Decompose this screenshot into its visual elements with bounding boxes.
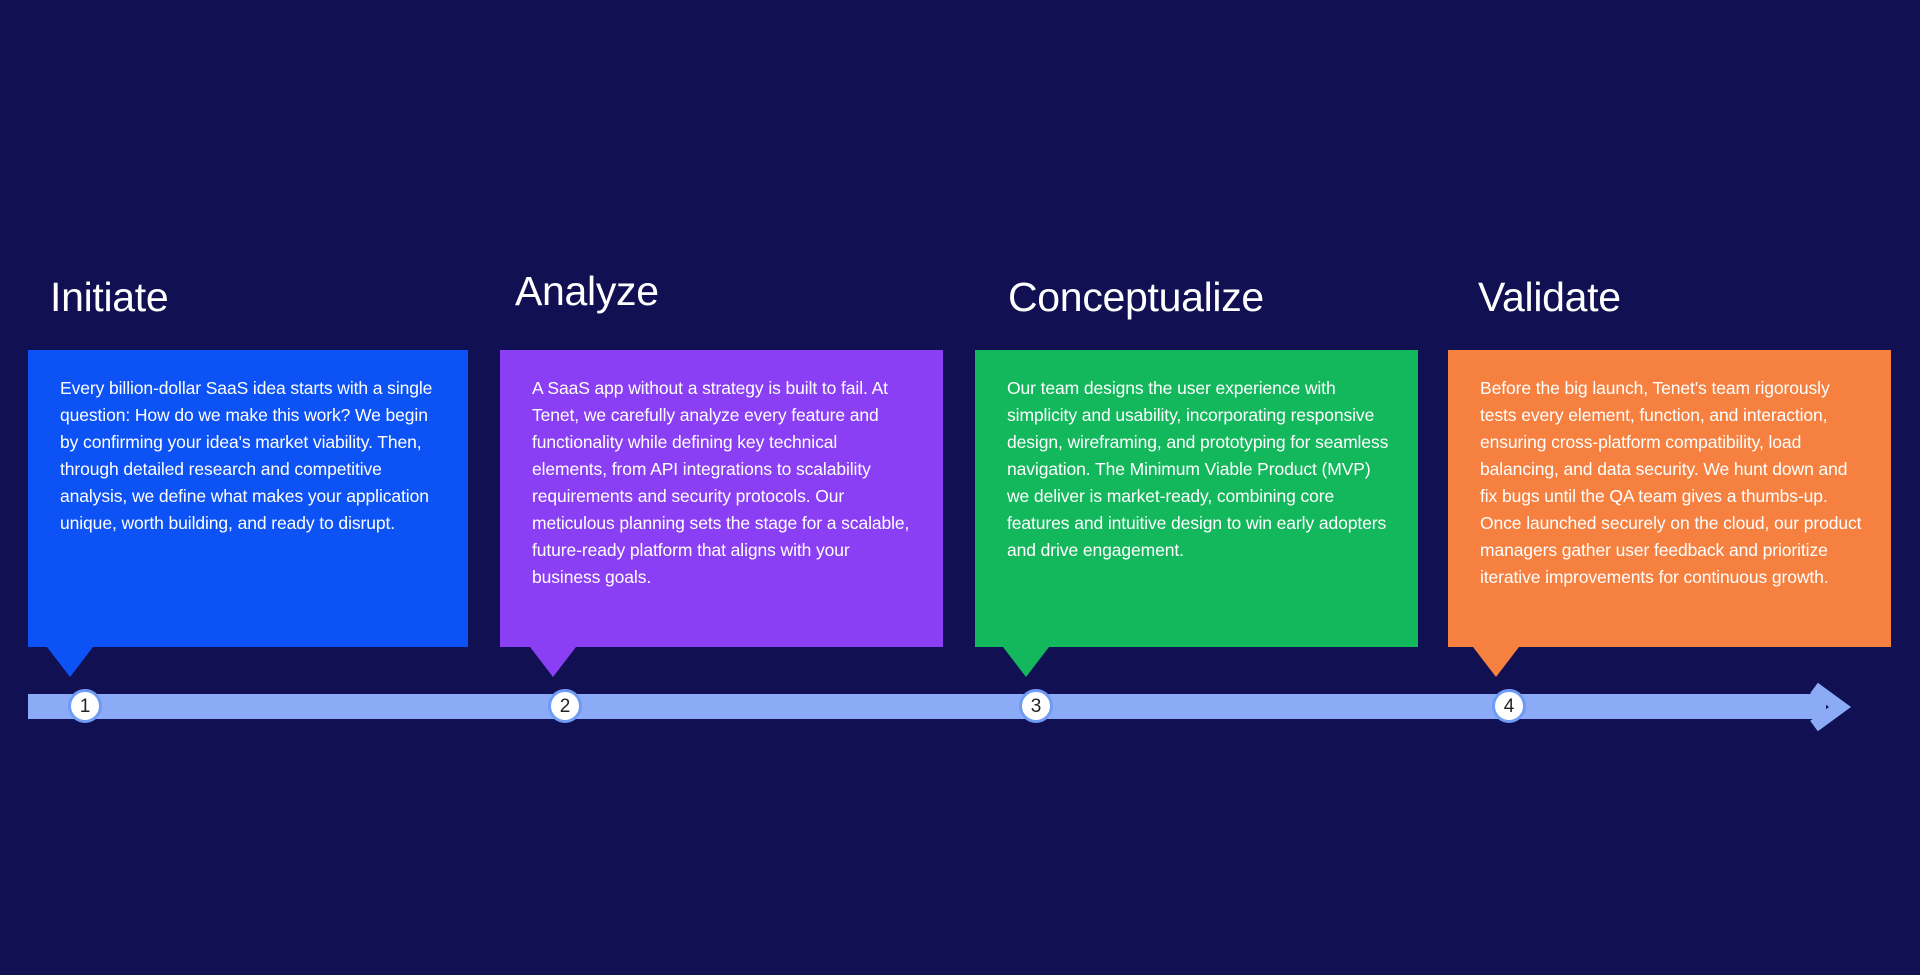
step-card-2: A SaaS app without a strategy is built t… (500, 350, 943, 647)
step-title-1: Initiate (50, 277, 168, 318)
step-title-3: Conceptualize (1008, 277, 1264, 318)
timeline-marker-3[interactable]: 3 (1019, 689, 1053, 723)
step-description-2: A SaaS app without a strategy is built t… (500, 350, 943, 616)
timeline-marker-1[interactable]: 1 (68, 689, 102, 723)
step-card-tail-4 (1473, 647, 1519, 677)
step-card-tail-2 (530, 647, 576, 677)
step-title-4: Validate (1478, 277, 1621, 318)
timeline-bar (28, 694, 1826, 719)
timeline-marker-2[interactable]: 2 (548, 689, 582, 723)
arrow-right-icon (1800, 681, 1852, 733)
timeline-marker-4[interactable]: 4 (1492, 689, 1526, 723)
step-description-1: Every billion-dollar SaaS idea starts wi… (28, 350, 468, 562)
step-card-4: Before the big launch, Tenet's team rigo… (1448, 350, 1891, 647)
process-timeline-infographic: Initiate Every billion-dollar SaaS idea … (0, 0, 1920, 975)
step-card-3: Our team designs the user experience wit… (975, 350, 1418, 647)
step-description-4: Before the big launch, Tenet's team rigo… (1448, 350, 1891, 616)
step-card-tail-3 (1003, 647, 1049, 677)
step-card-1: Every billion-dollar SaaS idea starts wi… (28, 350, 468, 647)
step-title-2: Analyze (515, 271, 659, 312)
step-description-3: Our team designs the user experience wit… (975, 350, 1418, 589)
step-card-tail-1 (47, 647, 93, 677)
